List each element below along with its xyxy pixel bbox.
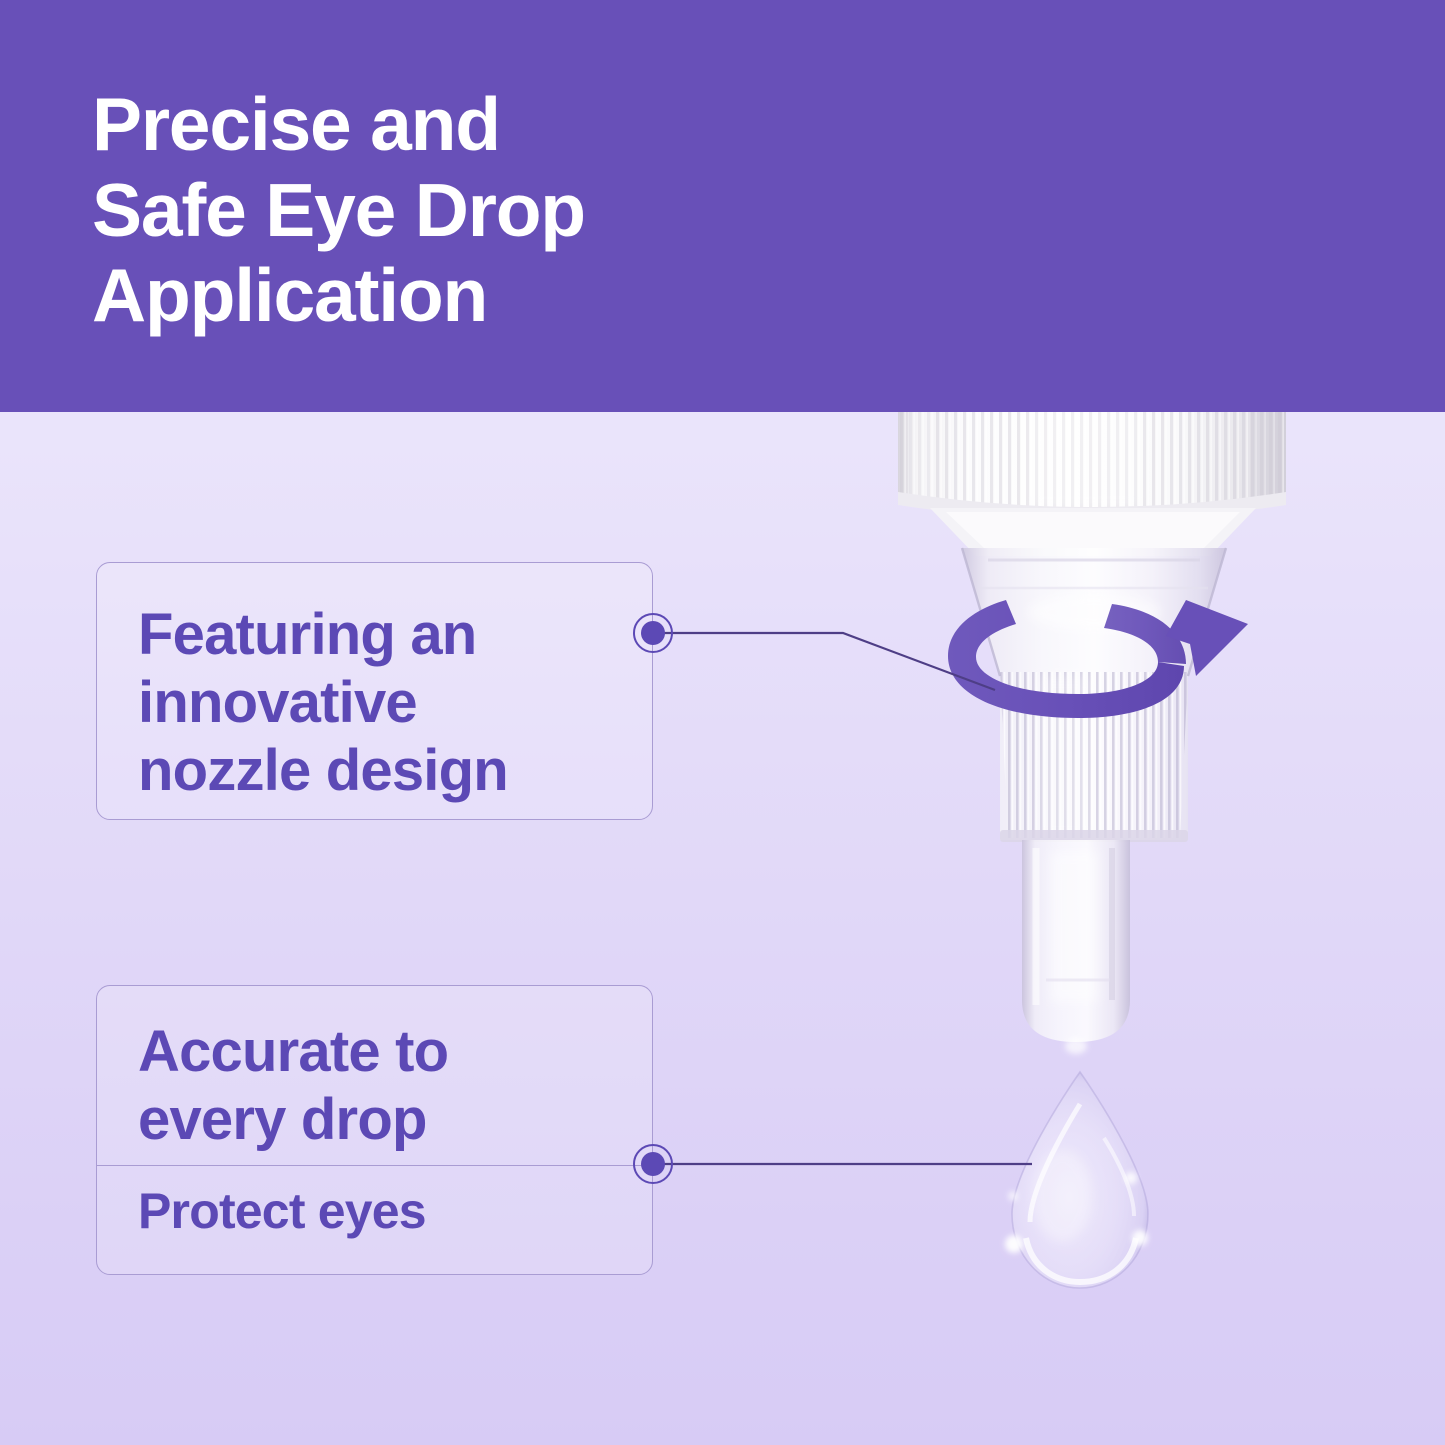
callout-divider (97, 1165, 654, 1166)
callout-accuracy-label: Accurate to every drop (138, 1018, 448, 1154)
callout-protect-eyes-label: Protect eyes (138, 1184, 426, 1239)
connector-dot-drop[interactable] (633, 1144, 673, 1184)
connector-dot-nozzle[interactable] (633, 613, 673, 653)
callout-nozzle-design[interactable]: Featuring an innovative nozzle design (96, 562, 653, 820)
marketing-infographic: Precise and Safe Eye Drop Application Fe… (0, 0, 1445, 1445)
callout-nozzle-label: Featuring an innovative nozzle design (138, 601, 508, 805)
callout-accuracy[interactable]: Accurate to every drop Protect eyes (96, 985, 653, 1275)
connector-line-nozzle (653, 633, 995, 690)
